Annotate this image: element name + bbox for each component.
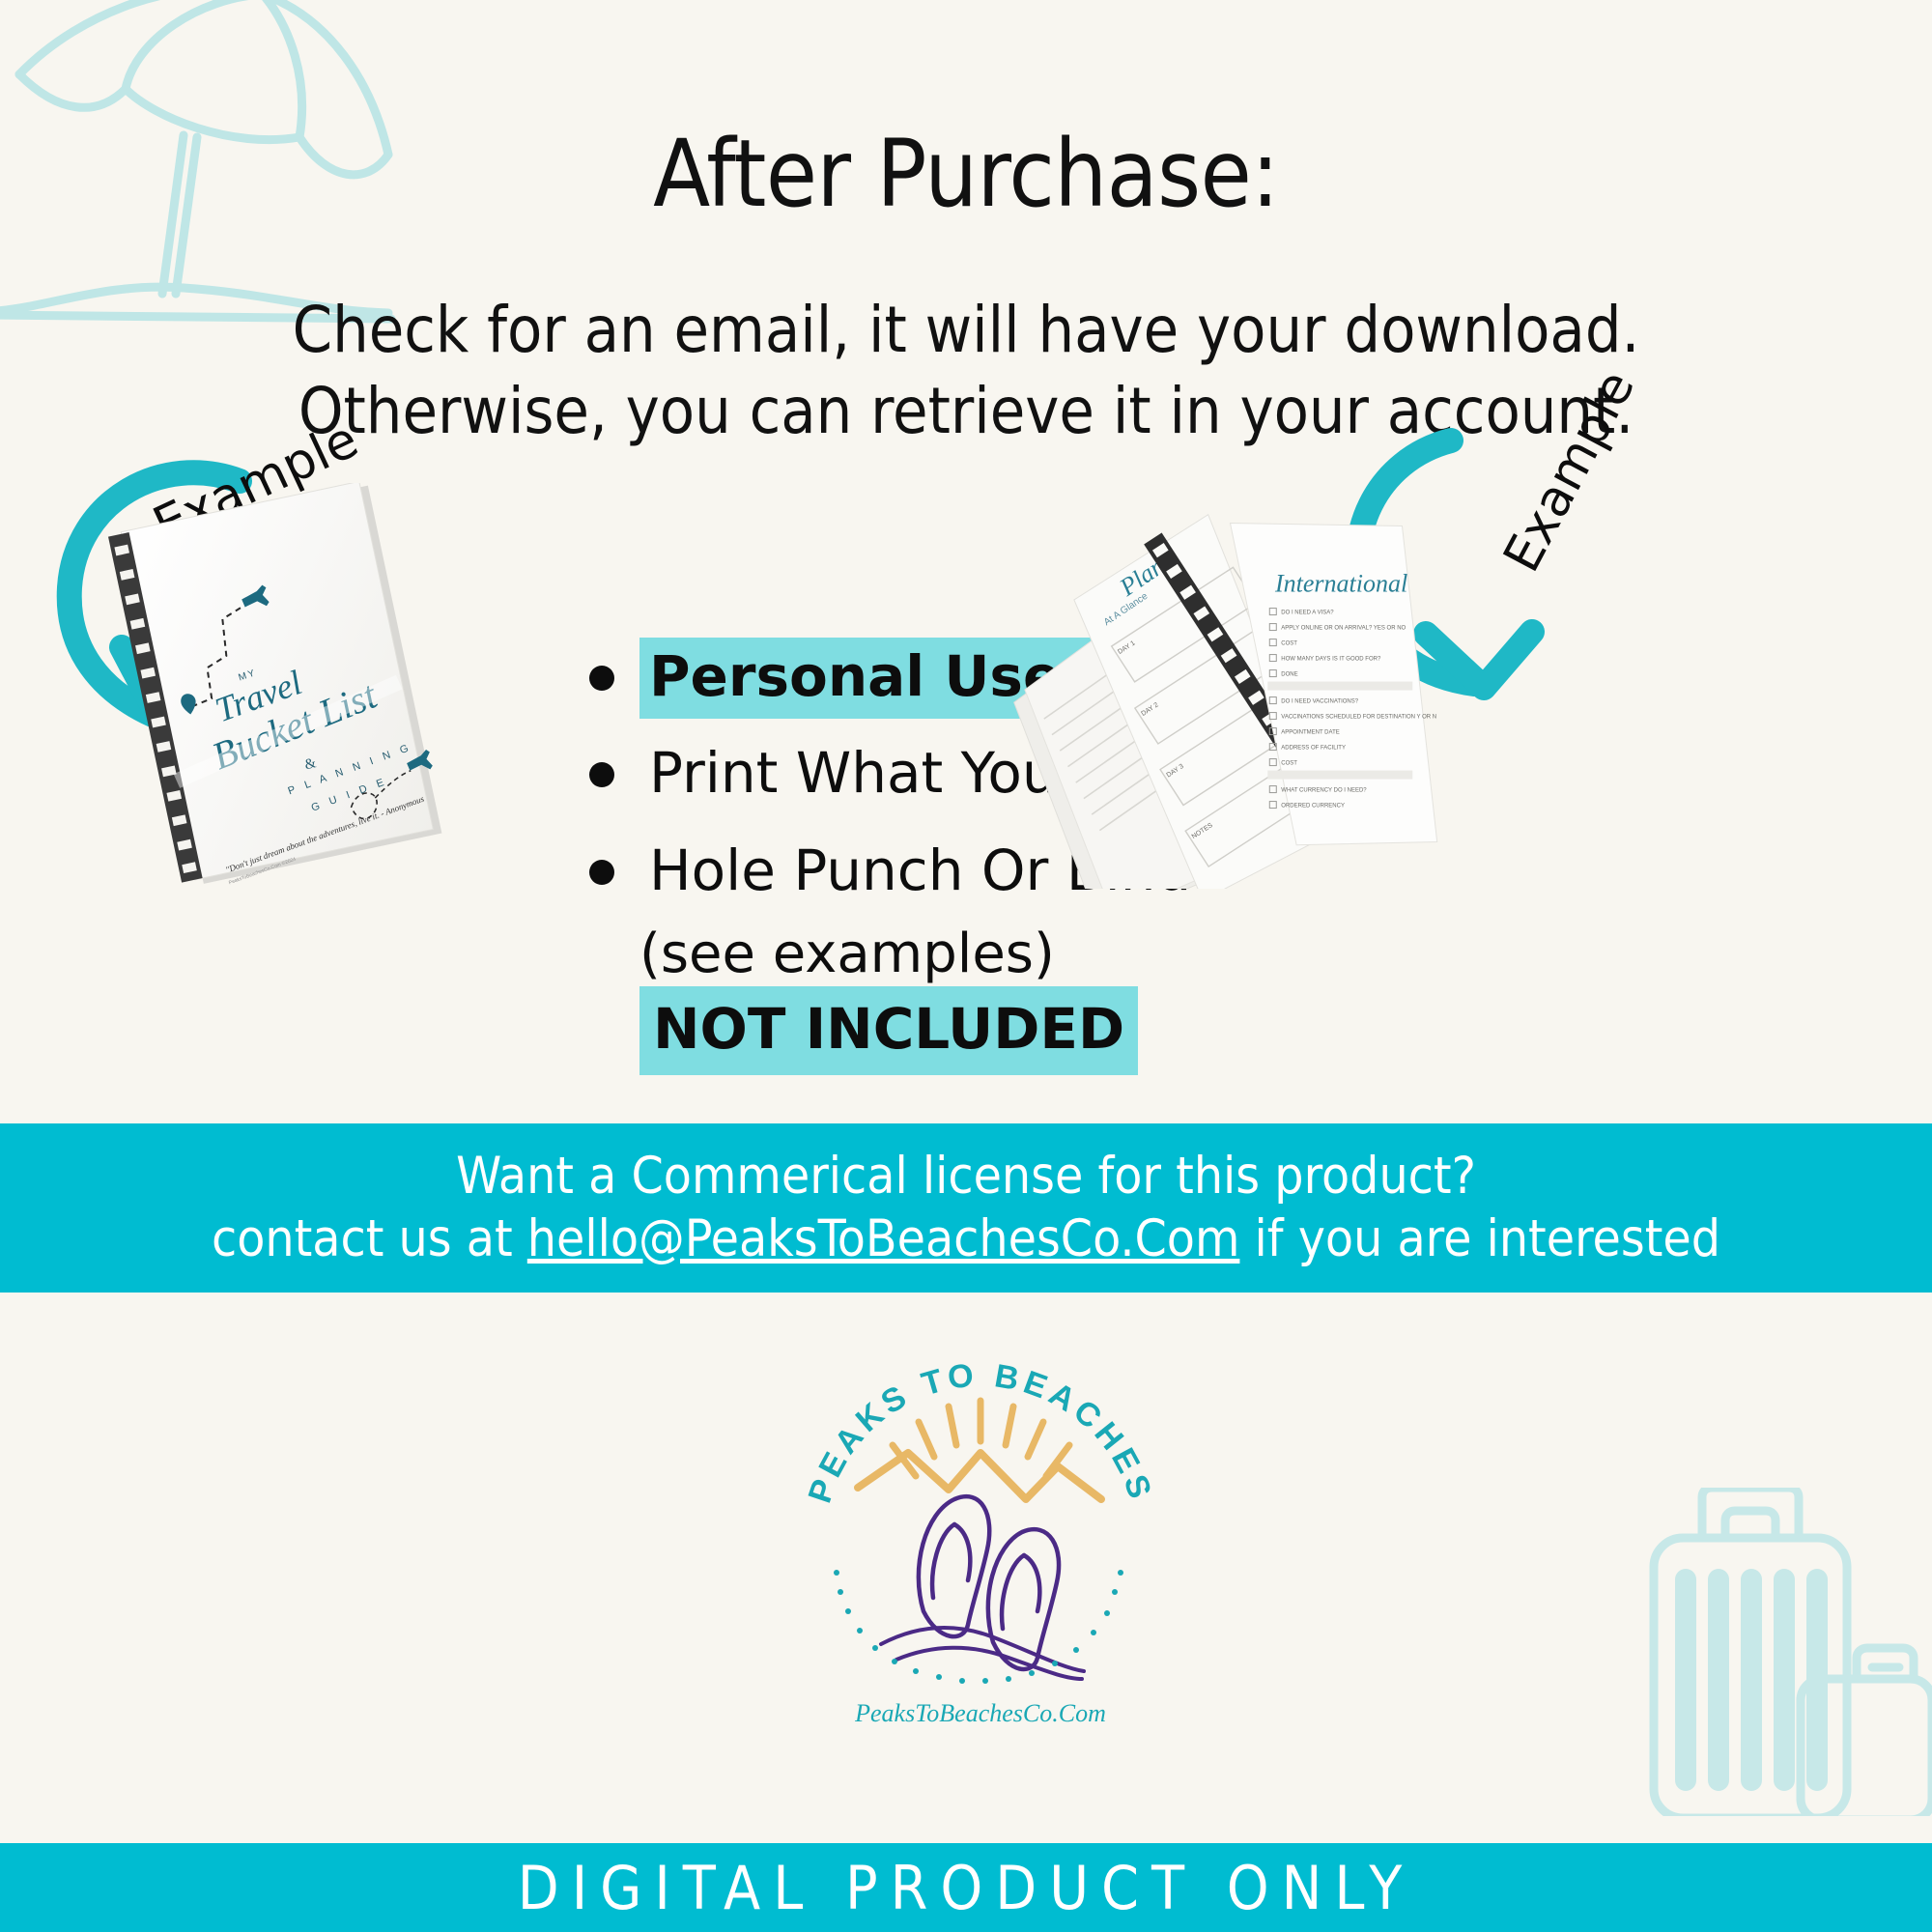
svg-text:HOW MANY DAYS IS IT GOOD FOR?: HOW MANY DAYS IS IT GOOD FOR? — [1281, 657, 1381, 663]
svg-text:DO I NEED VACCINATIONS?: DO I NEED VACCINATIONS? — [1281, 699, 1358, 705]
mountain-icon — [858, 1453, 1101, 1499]
contact-suffix-text: if you are interested — [1239, 1209, 1720, 1268]
svg-text:WHAT CURRENCY DO I NEED?: WHAT CURRENCY DO I NEED? — [1281, 788, 1367, 794]
suitcase-icon — [1613, 1488, 1932, 1816]
sand-icon — [881, 1628, 1084, 1679]
svg-text:ORDERED CURRENCY: ORDERED CURRENCY — [1281, 804, 1345, 810]
svg-text:APPOINTMENT DATE: APPOINTMENT DATE — [1281, 730, 1339, 736]
commercial-license-banner: Want a Commerical license for this produ… — [0, 1123, 1932, 1293]
svg-text:COST: COST — [1281, 761, 1297, 767]
brand-logo: PEAKS TO BEACHES — [802, 1352, 1159, 1739]
logo-url-text: PeaksToBeachesCo.Com — [854, 1699, 1106, 1727]
bullet-sub-note: (see examples) — [589, 923, 1227, 986]
poster-canvas: After Purchase: Check for an email, it w… — [0, 0, 1932, 1932]
svg-text:International: International — [1274, 569, 1407, 597]
right-product-photo: Plans At A Glance DAY 1 DAY 2 DAY 3 NOTE… — [1009, 502, 1473, 889]
svg-text:DO I NEED A VISA?: DO I NEED A VISA? — [1281, 611, 1334, 616]
bullet-dot-icon — [589, 860, 614, 885]
not-included-badge: NOT INCLUDED — [639, 986, 1138, 1075]
svg-text:ADDRESS OF FACILITY: ADDRESS OF FACILITY — [1281, 746, 1346, 752]
contact-prefix-text: contact us at — [212, 1209, 527, 1268]
bullet-dot-icon — [589, 762, 614, 787]
contact-email-link[interactable]: hello@PeaksToBeachesCo.Com — [527, 1209, 1240, 1268]
commercial-banner-line-1: Want a Commerical license for this produ… — [456, 1146, 1476, 1208]
svg-text:APPLY ONLINE OR ON ARRIVAL?: APPLY ONLINE OR ON ARRIVAL? YES OR NO — [1281, 626, 1406, 632]
svg-text:VACCINATIONS SCHEDULED FOR DES: VACCINATIONS SCHEDULED FOR DESTINATION Y… — [1281, 715, 1436, 721]
commercial-banner-line-2: contact us at hello@PeaksToBeachesCo.Com… — [212, 1208, 1720, 1271]
page-title: After Purchase: — [0, 128, 1932, 220]
subtitle-line-1: Check for an email, it will have your do… — [0, 290, 1932, 371]
bullet-dot-icon — [589, 666, 614, 691]
flip-flops-icon — [919, 1496, 1059, 1669]
digital-product-label: DIGITAL PRODUCT ONLY — [518, 1853, 1415, 1923]
left-product-photo: MY Travel Bucket List & P L A N N I N G … — [97, 483, 464, 889]
svg-text:COST: COST — [1281, 641, 1297, 647]
svg-text:DONE: DONE — [1281, 672, 1297, 678]
digital-product-banner: DIGITAL PRODUCT ONLY — [0, 1843, 1932, 1932]
